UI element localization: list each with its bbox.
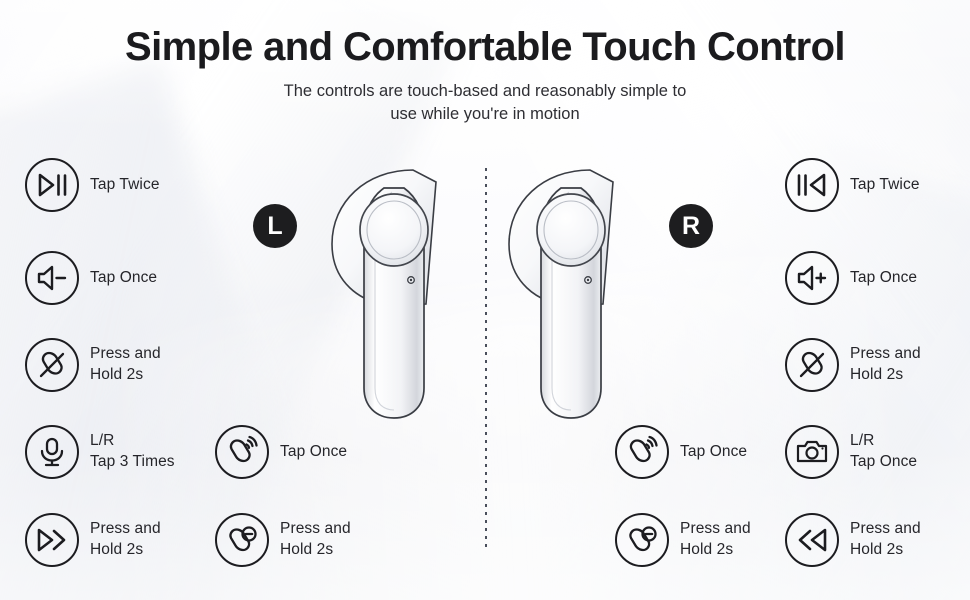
play-pause-icon (25, 158, 79, 212)
volume-up-icon (785, 251, 839, 305)
pause-play-icon (785, 158, 839, 212)
control-row-reject-call-right[interactable]: Press and Hold 2s (615, 513, 751, 567)
control-row-volume-down[interactable]: Tap Once (25, 251, 157, 305)
control-label: Press and Hold 2s (90, 344, 161, 385)
right-channel-badge: R (669, 204, 713, 248)
control-label: Press and Hold 2s (280, 519, 351, 560)
control-row-reject-call-left[interactable]: Press and Hold 2s (215, 513, 351, 567)
left-channel-badge: L (253, 204, 297, 248)
center-dotted-divider (485, 168, 487, 550)
left-earbud-image (318, 152, 478, 432)
control-label: Press and Hold 2s (850, 519, 921, 560)
volume-down-icon (25, 251, 79, 305)
control-label: Tap Twice (850, 175, 920, 196)
page-title: Simple and Comfortable Touch Control (0, 26, 970, 68)
control-label: Press and Hold 2s (90, 519, 161, 560)
control-label: Press and Hold 2s (850, 344, 921, 385)
control-label: Tap Once (90, 268, 157, 289)
previous-track-icon (785, 513, 839, 567)
control-label: Tap Once (680, 442, 747, 463)
microphone-icon (25, 425, 79, 479)
answer-call-icon (215, 425, 269, 479)
control-row-previous-track[interactable]: Press and Hold 2s (785, 513, 921, 567)
control-row-end-call-left[interactable]: Press and Hold 2s (25, 338, 161, 392)
control-label: L/R Tap Once (850, 431, 917, 472)
control-label: L/R Tap 3 Times (90, 431, 175, 472)
page-subtitle: The controls are touch-based and reasona… (0, 80, 970, 127)
control-row-pause-play[interactable]: Tap Twice (785, 158, 920, 212)
reject-call-icon (215, 513, 269, 567)
control-label: Tap Once (850, 268, 917, 289)
control-row-answer-call-right[interactable]: Tap Once (615, 425, 747, 479)
control-label: Tap Once (280, 442, 347, 463)
control-label: Tap Twice (90, 175, 160, 196)
end-call-icon (785, 338, 839, 392)
control-row-next-track[interactable]: Press and Hold 2s (25, 513, 161, 567)
camera-icon (785, 425, 839, 479)
answer-call-icon (615, 425, 669, 479)
control-row-volume-up[interactable]: Tap Once (785, 251, 917, 305)
end-call-icon (25, 338, 79, 392)
control-row-camera[interactable]: L/R Tap Once (785, 425, 917, 479)
control-row-microphone[interactable]: L/R Tap 3 Times (25, 425, 175, 479)
control-label: Press and Hold 2s (680, 519, 751, 560)
right-earbud-image (495, 152, 655, 432)
control-row-answer-call-left[interactable]: Tap Once (215, 425, 347, 479)
header: Simple and Comfortable Touch Control The… (0, 0, 970, 127)
next-track-icon (25, 513, 79, 567)
control-row-end-call-right[interactable]: Press and Hold 2s (785, 338, 921, 392)
reject-call-icon (615, 513, 669, 567)
control-row-play-pause[interactable]: Tap Twice (25, 158, 160, 212)
